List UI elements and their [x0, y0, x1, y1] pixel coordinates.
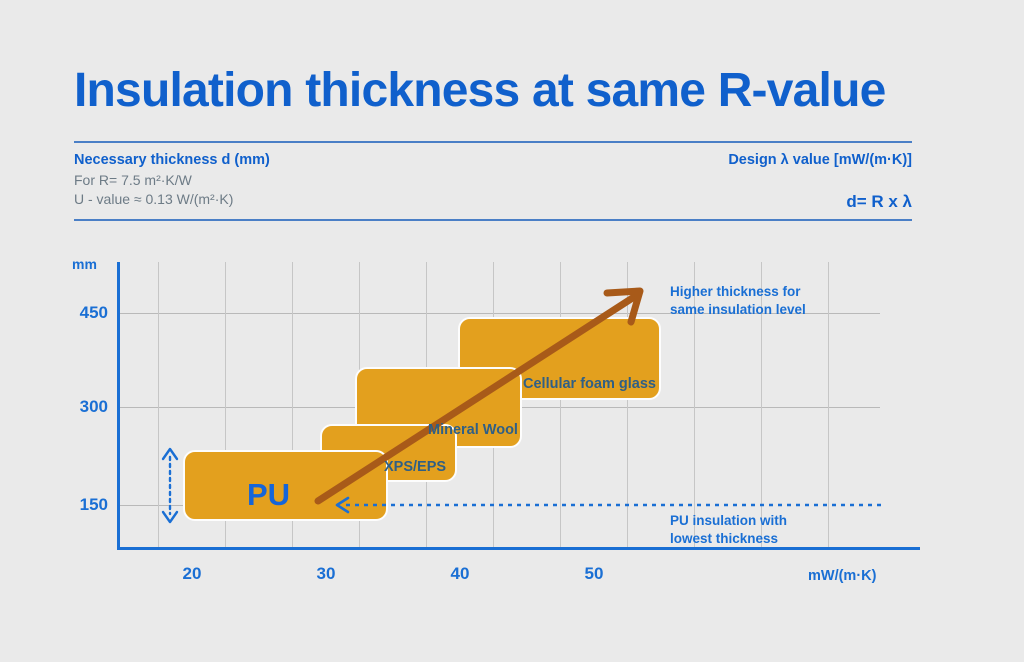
annotation-higher-thickness: Higher thickness for same insulation lev…	[670, 283, 806, 319]
y-axis-line	[117, 262, 120, 550]
y-tick-450: 450	[48, 303, 108, 323]
bar-label-xps-eps: XPS/EPS	[384, 459, 446, 475]
x-tick-20: 20	[162, 564, 222, 584]
bar-label-mineral-wool: Mineral Wool	[428, 422, 518, 438]
infographic-root: Insulation thickness at same R-value Nec…	[0, 0, 1024, 662]
x-axis-unit-label: mW/(m·K)	[808, 568, 876, 584]
pu-thickness-measure-arrow-icon	[163, 449, 177, 522]
chart-area: mm 450 300 150 20 30 40 50 mW/(m·K)	[0, 0, 1024, 662]
gridline-v-11	[828, 262, 829, 548]
x-tick-40: 40	[430, 564, 490, 584]
gridline-v-7	[560, 262, 561, 548]
x-tick-30: 30	[296, 564, 356, 584]
y-tick-300: 300	[48, 397, 108, 417]
gridline-v-1	[158, 262, 159, 548]
x-axis-line	[117, 547, 920, 550]
x-tick-50: 50	[564, 564, 624, 584]
bar-label-pu: PU	[247, 477, 290, 513]
y-tick-150: 150	[48, 495, 108, 515]
annotation-pu-lowest-thickness: PU insulation with lowest thickness	[670, 512, 787, 548]
bar-label-cellular-foam-glass: Cellular foam glass	[523, 376, 656, 392]
gridline-v-8	[627, 262, 628, 548]
y-axis-unit-label: mm	[72, 256, 97, 272]
reference-line-150	[337, 498, 882, 512]
